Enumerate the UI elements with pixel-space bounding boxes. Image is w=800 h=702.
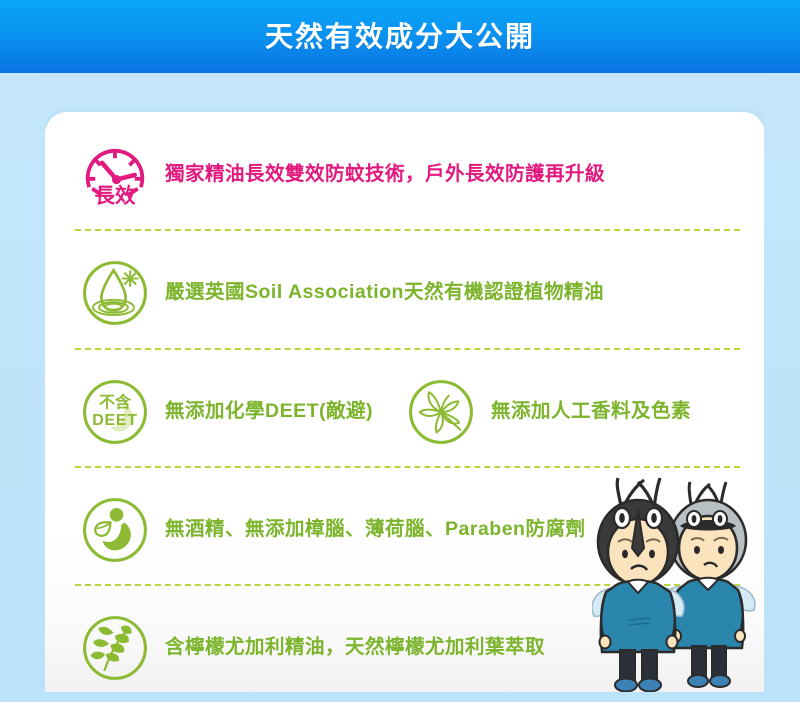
background-left-edge (0, 73, 45, 702)
feature-item-eucalyptus: 含檸檬尤加利精油，天然檸檬尤加利葉萃取 (77, 610, 545, 686)
background-right-edge (764, 73, 800, 702)
feature-row: 嚴選英國Soil Association天然有機認證植物精油 (45, 234, 765, 352)
feature-text: 無添加人工香料及色素 (491, 401, 691, 422)
page-title: 天然有效成分大公開 (265, 23, 535, 51)
droplet-sparkle-icon (77, 255, 153, 331)
feature-text: 無添加化學DEET(敵避) (165, 401, 373, 422)
feature-row: 長效 獨家精油長效雙效防蚊技術，戶外長效防護再升級 (45, 116, 765, 234)
background-bottom-edge (0, 692, 800, 702)
clock-icon-label: 長效 (94, 183, 136, 207)
mosquito-mascot-characters (592, 470, 772, 695)
clock-longlasting-icon: 長效 (77, 137, 153, 213)
feature-item-longlasting: 長效 獨家精油長效雙效防蚊技術，戶外長效防護再升級 (77, 137, 605, 213)
eucalyptus-branch-icon (77, 610, 153, 686)
no-deet-icon-label-top: 不含 (99, 392, 132, 411)
feature-item-no-fragrance: 無添加人工香料及色素 (403, 374, 691, 450)
feature-row: 不含 DEET 無添加化學DEET(敵避) (45, 353, 765, 471)
person-leaf-icon (77, 492, 153, 568)
mascot-left (592, 478, 684, 692)
feature-item-no-alcohol: 無酒精、無添加樟腦、薄荷腦、Paraben防腐劑 (77, 492, 585, 568)
feature-item-no-deet: 不含 DEET 無添加化學DEET(敵避) (77, 374, 373, 450)
page-root: 天然有效成分大公開 (0, 0, 800, 702)
leaf-cluster-icon (403, 374, 479, 450)
feature-text: 獨家精油長效雙效防蚊技術，戶外長效防護再升級 (165, 164, 605, 185)
feature-text: 嚴選英國Soil Association天然有機認證植物精油 (165, 282, 604, 303)
feature-item-organic-oil: 嚴選英國Soil Association天然有機認證植物精油 (77, 255, 604, 331)
mascot-right (661, 482, 755, 687)
feature-text: 含檸檬尤加利精油，天然檸檬尤加利葉萃取 (165, 637, 545, 658)
no-deet-icon: 不含 DEET (77, 374, 153, 450)
feature-text: 無酒精、無添加樟腦、薄荷腦、Paraben防腐劑 (165, 519, 585, 540)
no-deet-icon-label-bottom: DEET (92, 412, 138, 429)
row-divider (75, 348, 740, 350)
row-divider (75, 466, 740, 468)
header-bar: 天然有效成分大公開 (0, 0, 800, 73)
row-divider (75, 229, 740, 231)
